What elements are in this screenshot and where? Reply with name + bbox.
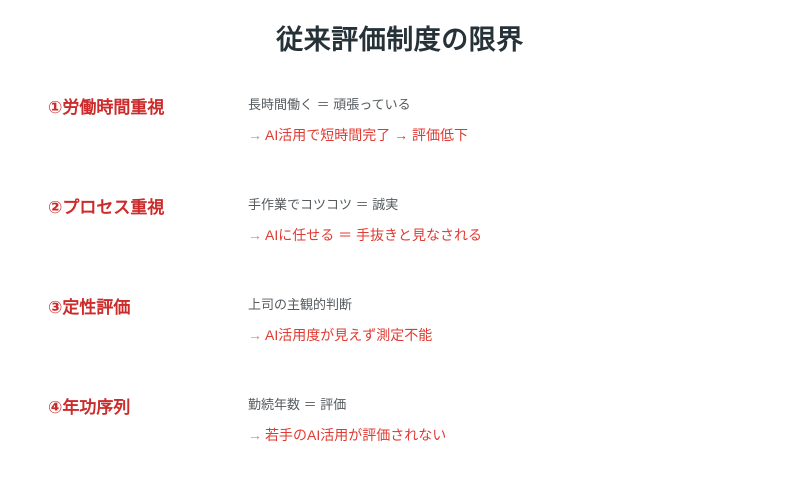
list-item: ②プロセス重視 手作業でコツコツ ＝ 誠実 →AIに任せる ＝ 手抜きと見なされ… (0, 195, 800, 295)
row-detail-3: 上司の主観的判断 →AI活用度が見えず測定不能 (248, 295, 768, 346)
row-current-3: 上司の主観的判断 (248, 295, 768, 315)
arrow-right-icon: → (248, 127, 262, 143)
arrow-right-icon: → (248, 427, 262, 443)
list-item: ①労働時間重視 長時間働く ＝ 頑張っている →AI活用で短時間完了 → 評価低… (0, 95, 800, 195)
row-current-1: 長時間働く ＝ 頑張っている (248, 95, 768, 115)
row-detail-2: 手作業でコツコツ ＝ 誠実 →AIに任せる ＝ 手抜きと見なされる (248, 195, 768, 246)
row-label-4: ④年功序列 (48, 397, 130, 418)
row-result-3: →AI活用度が見えず測定不能 (248, 325, 768, 346)
row-label-2: ②プロセス重視 (48, 197, 164, 218)
list-item: ③定性評価 上司の主観的判断 →AI活用度が見えず測定不能 (0, 295, 800, 395)
row-current-4: 勤続年数 ＝ 評価 (248, 395, 768, 415)
row-result-text-3: AI活用度が見えず測定不能 (265, 327, 432, 343)
slide-canvas: 従来評価制度の限界 ①労働時間重視 長時間働く ＝ 頑張っている →AI活用で短… (0, 0, 800, 500)
row-result-text-2: AIに任せる ＝ 手抜きと見なされる (265, 227, 482, 243)
row-result-1: →AI活用で短時間完了 → 評価低下 (248, 125, 768, 146)
row-current-2: 手作業でコツコツ ＝ 誠実 (248, 195, 768, 215)
row-result-2: →AIに任せる ＝ 手抜きと見なされる (248, 225, 768, 246)
row-detail-1: 長時間働く ＝ 頑張っている →AI活用で短時間完了 → 評価低下 (248, 95, 768, 146)
row-label-3: ③定性評価 (48, 297, 130, 318)
row-result-text-4: 若手のAI活用が評価されない (265, 427, 446, 443)
page-title: 従来評価制度の限界 (0, 24, 800, 56)
row-label-1: ①労働時間重視 (48, 97, 164, 118)
row-result-4: →若手のAI活用が評価されない (248, 425, 768, 446)
list-item: ④年功序列 勤続年数 ＝ 評価 →若手のAI活用が評価されない (0, 395, 800, 495)
limitation-list: ①労働時間重視 長時間働く ＝ 頑張っている →AI活用で短時間完了 → 評価低… (0, 95, 800, 495)
row-detail-4: 勤続年数 ＝ 評価 →若手のAI活用が評価されない (248, 395, 768, 446)
arrow-right-icon: → (248, 327, 262, 343)
row-result-text-1: AI活用で短時間完了 → 評価低下 (265, 127, 468, 143)
arrow-right-icon: → (248, 227, 262, 243)
